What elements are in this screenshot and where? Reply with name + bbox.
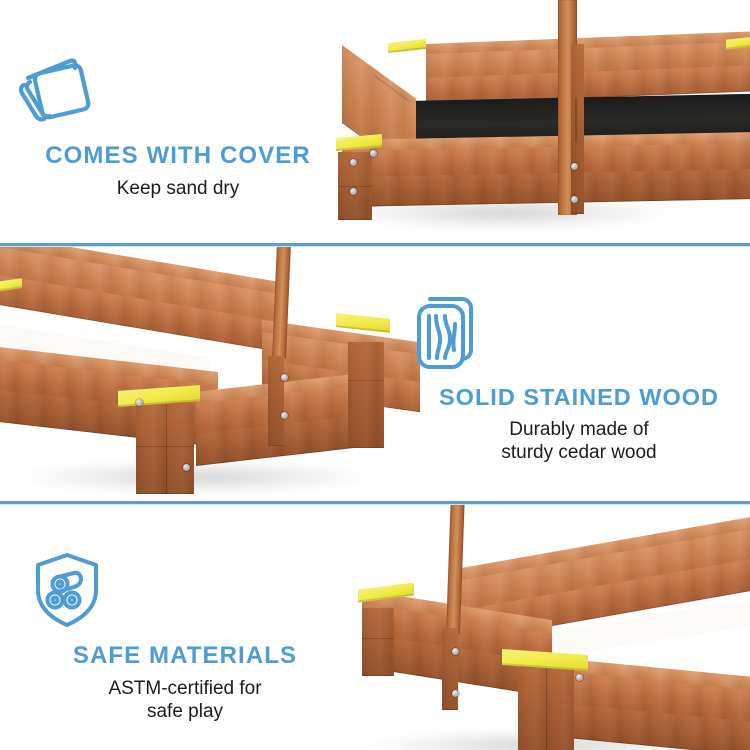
screw <box>281 412 288 419</box>
folded-cover-icon <box>8 52 348 130</box>
screw <box>350 159 357 166</box>
sandbox-left-corner-post <box>362 608 394 676</box>
screw <box>136 399 143 406</box>
product-photo-safety <box>340 504 750 750</box>
screw <box>571 163 578 170</box>
feature-text-safe-materials: SAFE MATERIALS ASTM-certified for safe p… <box>30 550 340 723</box>
sandbox-front-lower-plank <box>342 169 750 207</box>
feature-text-solid-stained-wood: SOLID STAINED WOOD Durably made of sturd… <box>414 294 744 464</box>
product-feature-infographic: COMES WITH COVER Keep sand dry <box>0 0 750 750</box>
front-post-seam <box>136 446 194 447</box>
feature-panel-safe-materials: SAFE MATERIALS ASTM-certified for safe p… <box>0 504 750 750</box>
screw <box>370 150 377 157</box>
product-photo-wood <box>0 246 420 502</box>
sandbox-center-post-brace <box>442 628 458 710</box>
front-post-vertical-seam <box>166 404 167 494</box>
section-divider-bottom <box>0 501 750 504</box>
feature-title: SAFE MATERIALS <box>30 642 340 670</box>
feature-panel-solid-stained-wood: SOLID STAINED WOOD Durably made of sturd… <box>0 246 750 502</box>
sandbox-center-post-brace <box>268 356 284 446</box>
sandbox-front-corner-post <box>136 404 194 494</box>
product-photo-cover <box>330 0 750 244</box>
feature-text-comes-with-cover: COMES WITH COVER Keep sand dry <box>8 52 348 200</box>
right-post-seam <box>348 380 384 381</box>
feature-subtitle-line: ASTM-certified for <box>30 677 340 700</box>
screw <box>452 690 459 697</box>
section-divider-top <box>0 243 750 246</box>
feature-panel-comes-with-cover: COMES WITH COVER Keep sand dry <box>0 0 750 244</box>
center-post-slot <box>575 98 577 142</box>
screw <box>350 188 357 195</box>
screw <box>576 674 583 681</box>
left-post-seam <box>362 638 394 639</box>
sandbox-right-corner-post <box>348 342 384 448</box>
screw <box>571 196 578 203</box>
feature-subtitle: Durably made of sturdy cedar wood <box>414 418 744 464</box>
feature-subtitle-line: Keep sand dry <box>8 177 348 200</box>
front-post-vertical-seam <box>546 668 547 750</box>
feature-subtitle-line: sturdy cedar wood <box>414 441 744 464</box>
corner-cap-yellow-back-right <box>336 313 390 333</box>
screw <box>281 374 288 381</box>
screw <box>183 464 190 471</box>
shield-logs-icon <box>30 550 340 630</box>
feature-subtitle-line: safe play <box>30 700 340 723</box>
feature-subtitle-line: Durably made of <box>414 418 744 441</box>
wood-grain-board-icon <box>414 294 744 372</box>
feature-title: SOLID STAINED WOOD <box>414 384 744 411</box>
feature-title: COMES WITH COVER <box>8 142 348 170</box>
corner-cap-yellow-back-left <box>388 39 426 53</box>
feature-subtitle: ASTM-certified for safe play <box>30 677 340 723</box>
feature-subtitle: Keep sand dry <box>8 177 348 200</box>
photo-ground-shadow <box>20 460 370 494</box>
sandbox-center-post-brace <box>571 44 584 214</box>
screw <box>452 648 459 655</box>
